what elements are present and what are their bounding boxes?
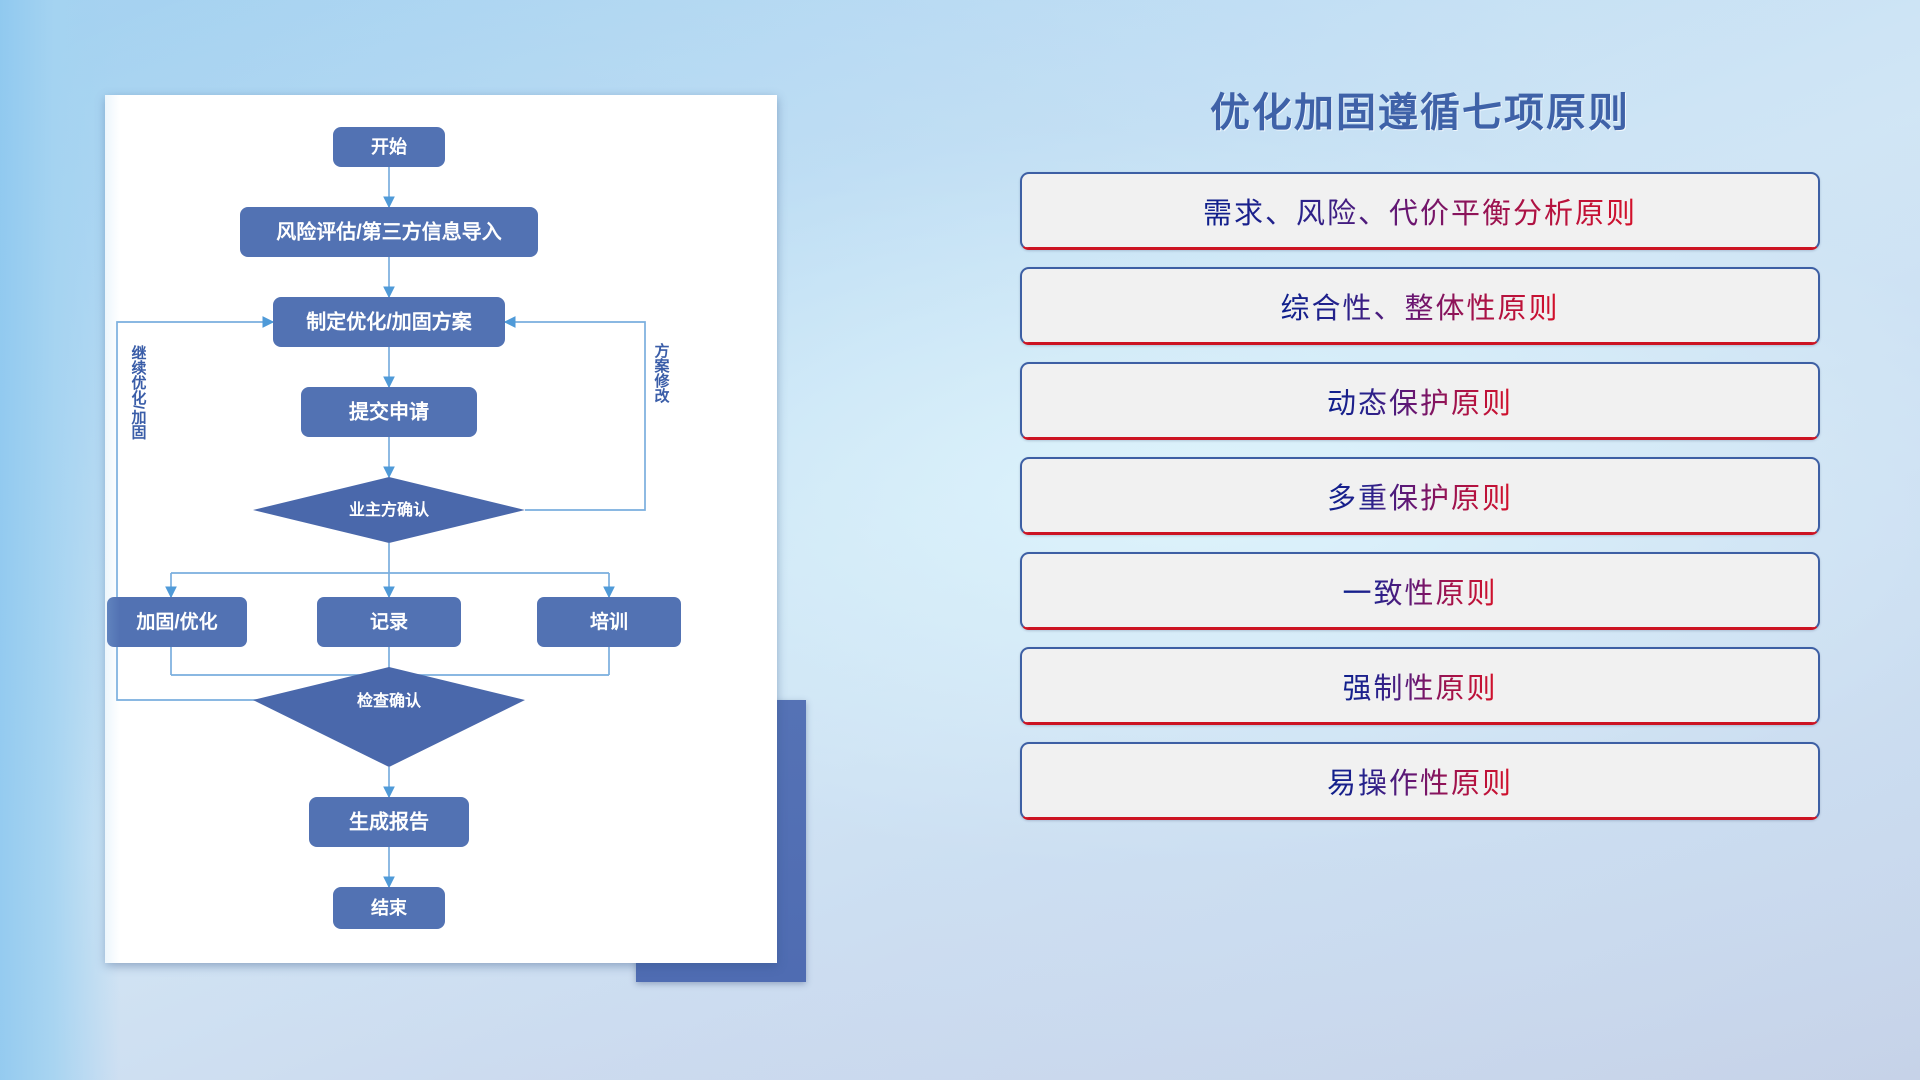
node-submit-label: 提交申请 — [349, 399, 429, 423]
node-end-label: 结束 — [371, 897, 408, 918]
principle-card-1[interactable]: 需求、风险、代价平衡分析原则 — [1020, 172, 1820, 250]
node-risk-label: 风险评估/第三方信息导入 — [276, 219, 502, 243]
flowchart-card: 开始 风险评估/第三方信息导入 制定优化/加固方案 提交申请 业主方确认 加固/ — [105, 95, 777, 963]
node-plan-label: 制定优化/加固方案 — [306, 309, 473, 333]
node-owner-label: 业主方确认 — [349, 500, 430, 519]
principle-card-4[interactable]: 多重保护原则 — [1020, 457, 1820, 535]
side-label-plan-revision: 方案修改 — [653, 342, 671, 404]
principle-card-2[interactable]: 综合性、整体性原则 — [1020, 267, 1820, 345]
node-harden[interactable]: 加固/优化 — [107, 597, 247, 647]
principle-card-5[interactable]: 一致性原则 — [1020, 552, 1820, 630]
principles-panel: 优化加固遵循七项原则 需求、风险、代价平衡分析原则 综合性、整体性原则 动态保护… — [1020, 80, 1820, 1020]
node-report-label: 生成报告 — [349, 809, 429, 833]
principle-label-6: 强制性原则 — [1342, 665, 1497, 707]
node-record-label: 记录 — [370, 611, 408, 633]
principle-label-7: 易操作性原则 — [1327, 760, 1513, 802]
principles-list: 需求、风险、代价平衡分析原则 综合性、整体性原则 动态保护原则 多重保护原则 一… — [1020, 172, 1820, 820]
side-label-continue-optimize: 继续优化/加固 — [130, 344, 148, 440]
node-plan[interactable]: 制定优化/加固方案 — [273, 297, 505, 347]
node-start-label: 开始 — [371, 136, 407, 157]
node-train[interactable]: 培训 — [537, 597, 681, 647]
node-check-confirm[interactable]: 检查确认 — [253, 667, 525, 767]
flowchart-diagram: 开始 风险评估/第三方信息导入 制定优化/加固方案 提交申请 业主方确认 加固/ — [105, 95, 777, 963]
principle-label-4: 多重保护原则 — [1327, 475, 1513, 517]
slide-background: 开始 风险评估/第三方信息导入 制定优化/加固方案 提交申请 业主方确认 加固/ — [0, 0, 1920, 1080]
node-record[interactable]: 记录 — [317, 597, 461, 647]
principle-card-7[interactable]: 易操作性原则 — [1020, 742, 1820, 820]
principle-label-5: 一致性原则 — [1342, 570, 1497, 612]
node-owner-confirm[interactable]: 业主方确认 — [253, 477, 525, 543]
principle-label-2: 综合性、整体性原则 — [1280, 285, 1559, 327]
node-submit[interactable]: 提交申请 — [301, 387, 477, 437]
node-risk-assessment[interactable]: 风险评估/第三方信息导入 — [240, 207, 538, 257]
node-check-label: 检查确认 — [357, 691, 422, 710]
principle-card-6[interactable]: 强制性原则 — [1020, 647, 1820, 725]
principle-label-3: 动态保护原则 — [1327, 380, 1513, 422]
principle-card-3[interactable]: 动态保护原则 — [1020, 362, 1820, 440]
node-end[interactable]: 结束 — [333, 887, 445, 929]
connector-owner-plan-revise — [505, 322, 645, 510]
node-train-label: 培训 — [590, 610, 628, 633]
principle-label-1: 需求、风险、代价平衡分析原则 — [1203, 190, 1637, 232]
node-report[interactable]: 生成报告 — [309, 797, 469, 847]
node-start[interactable]: 开始 — [333, 127, 445, 167]
page-title: 优化加固遵循七项原则 — [1020, 80, 1820, 138]
node-harden-label: 加固/优化 — [135, 610, 217, 633]
